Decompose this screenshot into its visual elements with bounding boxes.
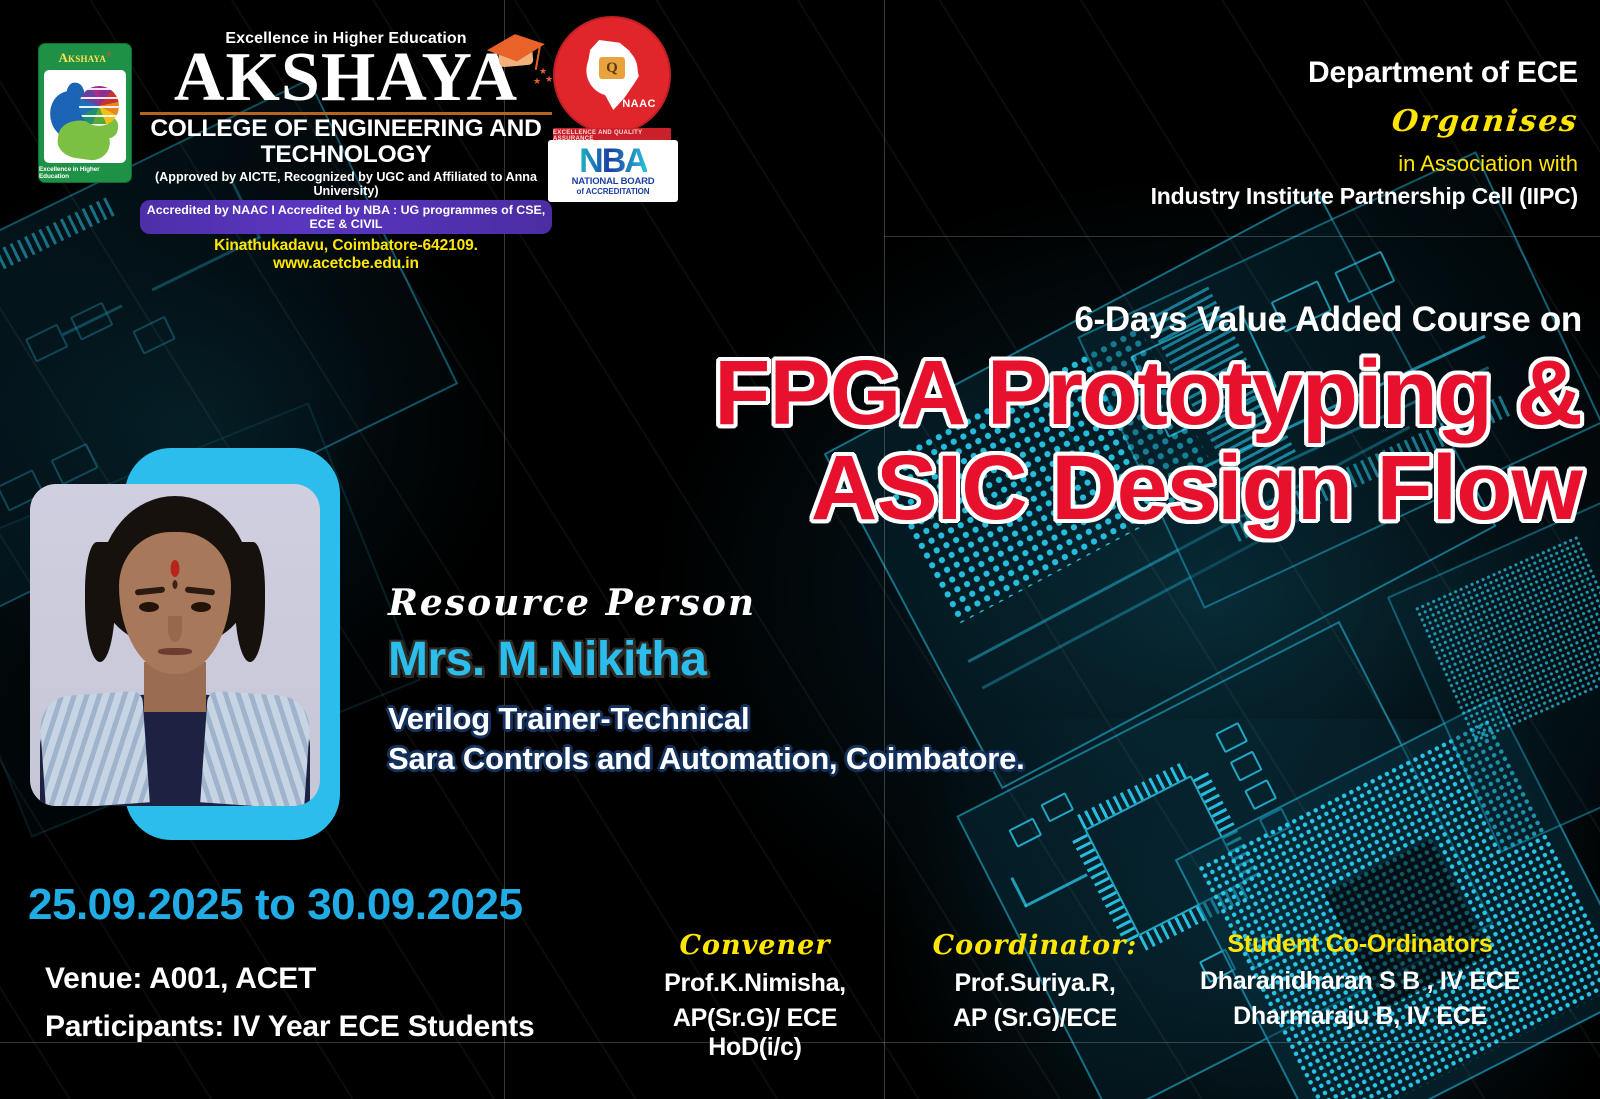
photo-bindi [171, 560, 180, 577]
guide-line-horizontal-mid [884, 236, 1600, 237]
akshaya-logo-badge: Akshaya® Excellence in Higher Education [38, 43, 132, 183]
coordinator-designation: AP (Sr.G)/ECE [925, 1004, 1145, 1033]
event-details: Venue: A001, ACET Participants: IV Year … [45, 962, 534, 1044]
course-title: FPGA Prototyping & ASIC Design Flow [562, 346, 1582, 536]
college-subtitle: COLLEGE OF ENGINEERING AND TECHNOLOGY [140, 116, 552, 168]
event-poster: Akshaya® Excellence in Higher Education … [0, 0, 1600, 1099]
course-title-line2: ASIC Design Flow [562, 441, 1582, 536]
student-coordinator-2: Dharmaraju B, IV ECE [1160, 1002, 1560, 1031]
convener-designation: AP(Sr.G)/ ECE HoD(i/c) [625, 1004, 885, 1062]
convener-column: Convener Prof.K.Nimisha, AP(Sr.G)/ ECE H… [625, 930, 885, 1062]
resource-person-organization: Sara Controls and Automation, Coimbatore… [388, 741, 1068, 777]
sparkle-icon-3: ★ [533, 76, 541, 87]
department-title: Department of ECE [938, 56, 1578, 90]
photo-eyebrow-left [135, 586, 165, 595]
student-coordinators-column: Student Co-Ordinators Dharanidharan S B … [1160, 930, 1560, 1031]
nba-line1: NATIONAL BOARD [572, 176, 655, 187]
course-title-line1: FPGA Prototyping & [714, 342, 1582, 444]
resource-person-photo-wrap [30, 448, 340, 840]
event-dates: 25.09.2025 to 30.09.2025 [28, 880, 522, 930]
student-coordinator-1: Dharanidharan S B , IV ECE [1160, 967, 1560, 996]
resource-person-label: Resource Person [388, 582, 1068, 624]
course-kicker: 6-Days Value Added Course on [562, 300, 1582, 340]
course-title-block: 6-Days Value Added Course on FPGA Protot… [562, 300, 1582, 536]
photo-eye-left [139, 602, 159, 612]
graduation-cap-icon: ★ ★ ★ [487, 26, 551, 82]
coordinator-role: Coordinator: [925, 930, 1145, 961]
badge-name: Akshaya® [58, 50, 111, 66]
photo-eyebrow-right [185, 586, 215, 595]
footer-people: Convener Prof.K.Nimisha, AP(Sr.G)/ ECE H… [600, 930, 1600, 1070]
convener-role: Convener [625, 930, 885, 961]
photo-face [119, 532, 231, 674]
naac-q-letter: Q [606, 60, 618, 77]
convener-name: Prof.K.Nimisha, [625, 969, 885, 998]
accreditation-band: Accredited by NAAC I Accredited by NBA :… [140, 200, 552, 234]
student-coordinators-role: Student Co-Ordinators [1160, 930, 1560, 959]
address-line: Kinathukadavu, Coimbatore-642109. www.ac… [140, 237, 552, 273]
event-participants: Participants: IV Year ECE Students [45, 1010, 534, 1044]
badge-trademark: ® [106, 51, 111, 59]
photo-shawl-left [38, 691, 150, 806]
naac-logo: Q NAAC [553, 16, 671, 134]
association-partner: Industry Institute Partnership Cell (IIP… [938, 183, 1578, 210]
nba-line2: of ACCREDITATION [577, 187, 650, 196]
nba-acronym: NBA [579, 146, 647, 177]
sparkle-icon-2: ★ [545, 74, 553, 85]
organises-label: Organises [1390, 104, 1580, 139]
naac-label: NAAC [622, 98, 656, 110]
photo-nose [168, 616, 182, 642]
badge-name-text: Akshaya [58, 50, 106, 65]
organiser-block: Department of ECE Organises in Associati… [938, 56, 1578, 210]
approval-line: (Approved by AICTE, Recognized by UGC an… [140, 170, 552, 198]
resource-person-name: Mrs. M.Nikitha [388, 632, 1068, 687]
resource-person-role: Verilog Trainer-Technical [388, 701, 1068, 737]
nba-logo: NBA NATIONAL BOARD of ACCREDITATION [548, 140, 678, 202]
globe-icon [79, 86, 119, 126]
event-venue: Venue: A001, ACET [45, 962, 534, 996]
coordinator-name: Prof.Suriya.R, [925, 969, 1145, 998]
photo-eye-right [191, 602, 211, 612]
resource-person-photo [30, 484, 320, 806]
photo-shawl-right [200, 691, 312, 806]
college-header: Akshaya® Excellence in Higher Education … [0, 0, 700, 205]
association-prefix: in Association with [938, 151, 1578, 177]
resource-person-block: Resource Person Mrs. M.Nikitha Verilog T… [388, 582, 1068, 777]
badge-emblem [44, 70, 126, 163]
coordinator-column: Coordinator: Prof.Suriya.R, AP (Sr.G)/EC… [925, 930, 1145, 1033]
naac-q-icon: Q [599, 57, 625, 79]
photo-mouth [158, 648, 192, 655]
photo-tilak [173, 580, 178, 589]
badge-tagline: Excellence in Higher Education [39, 166, 131, 180]
